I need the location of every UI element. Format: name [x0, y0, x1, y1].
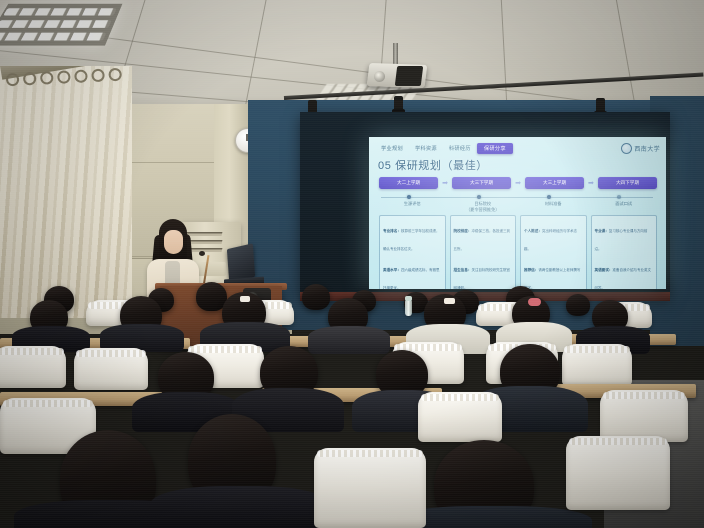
- recessed-louver-light: [0, 4, 122, 46]
- slide-tab-1: 学科资源: [409, 145, 443, 152]
- lecture-hall-photo: 学业规划 学科资源 科研经历 保研分享 西南大学 05 保研规划（最佳） 大二上…: [0, 0, 704, 528]
- slide-title: 05 保研规划（最佳）: [378, 157, 488, 173]
- card-paragraph: 院校梯度：冲稳保三档，各投递三到五所。: [454, 219, 513, 255]
- university-logo-text: 西南大学: [634, 144, 660, 153]
- column-header-3: 面试口试: [591, 201, 658, 212]
- card-paragraph: 英语面试：准备自我介绍与专业英文问答。: [595, 258, 654, 289]
- card-paragraph: 专业排名：核算前三学年加权成绩，确认专业排名位次。: [383, 219, 442, 255]
- water-bottle: [405, 300, 412, 316]
- paragraph-key: 英语面试：: [595, 268, 613, 272]
- paragraph-key: 招生信息：: [454, 268, 472, 272]
- timeline-dot: [477, 195, 481, 199]
- slide-step-chips: 大二上学期 ➡ 大三下学期 ➡ 大三上学期 ➡ 大四下学期: [379, 177, 657, 189]
- timeline-dot: [547, 195, 551, 199]
- slide-tab-3-active: 保研分享: [477, 143, 513, 154]
- step-arrow-icon: ➡: [588, 179, 594, 187]
- slide-column-headers: 生源评估 目标院校 （夏令营预推免） 材料准备 面试口试: [379, 201, 657, 212]
- content-card: 个人陈述：突出科研经历与学术志趣。 推荐信：请两位副教授以上老师撰写签字。 成绩…: [520, 215, 587, 289]
- paragraph-key: 英语水平：: [383, 268, 401, 272]
- column-header-2: 材料准备: [520, 201, 587, 212]
- slide-timeline: [381, 194, 653, 200]
- projector-lens: [374, 71, 385, 82]
- step-chip-3: 大四下学期: [598, 177, 657, 189]
- paragraph-key: 专业课：: [595, 229, 609, 233]
- paragraph-key: 个人陈述：: [524, 229, 542, 233]
- paragraph-key: 院校梯度：: [454, 229, 472, 233]
- hair-claw-clip: [444, 298, 455, 304]
- card-paragraph: 招生信息：关注目标院校研究生院官网通知。: [454, 258, 513, 289]
- step-chip-2: 大三上学期: [525, 177, 584, 189]
- timeline-dot: [617, 195, 621, 199]
- slide-nav-bar: 学业规划 学科资源 科研经历 保研分享 西南大学: [375, 142, 660, 154]
- step-arrow-icon: ➡: [442, 179, 448, 187]
- column-header-0: 生源评估: [379, 201, 446, 212]
- content-card: 专业课：复习核心专业课与方向前沿。 英语面试：准备自我介绍与专业英文问答。 科研…: [591, 215, 658, 289]
- card-paragraph: 推荐信：请两位副教授以上老师撰写签字。: [524, 258, 583, 289]
- microphone-head-icon: [199, 251, 205, 256]
- slide-content-cards: 专业排名：核算前三学年加权成绩，确认专业排名位次。 英语水平：四六级成绩达标，有…: [379, 215, 657, 289]
- paragraph-key: 推荐信：: [524, 268, 538, 272]
- university-logo: 西南大学: [621, 143, 660, 154]
- window-curtains: [0, 66, 132, 318]
- card-paragraph: 专业课：复习核心专业课与方向前沿。: [595, 219, 654, 255]
- university-logo-icon: [621, 143, 632, 154]
- card-paragraph: 英语水平：四六级成绩达标，有雅思托福更优。: [383, 258, 442, 289]
- step-chip-1: 大三下学期: [452, 177, 511, 189]
- content-card: 院校梯度：冲稳保三档，各投递三到五所。 招生信息：关注目标院校研究生院官网通知。…: [450, 215, 517, 289]
- hair-claw-clip: [240, 296, 250, 302]
- step-arrow-icon: ➡: [515, 179, 521, 187]
- slide-tab-0: 学业规划: [375, 145, 409, 152]
- timeline-line: [381, 197, 653, 198]
- content-card: 专业排名：核算前三学年加权成绩，确认专业排名位次。 英语水平：四六级成绩达标，有…: [379, 215, 446, 289]
- paragraph-key: 专业排名：: [383, 229, 401, 233]
- audience-shoulders: [308, 326, 390, 354]
- projector-vent: [395, 66, 423, 86]
- audience-shoulders: [150, 486, 330, 528]
- column-header-1: 目标院校 （夏令营预推免）: [450, 201, 517, 212]
- slide-tab-2: 科研经历: [443, 145, 477, 152]
- hair-clip: [528, 298, 541, 306]
- presenter-face: [164, 230, 183, 254]
- step-chip-0: 大二上学期: [379, 177, 438, 189]
- projection-screen: 学业规划 学科资源 科研经历 保研分享 西南大学 05 保研规划（最佳） 大二上…: [369, 137, 666, 289]
- timeline-dot: [407, 195, 411, 199]
- card-paragraph: 个人陈述：突出科研经历与学术志趣。: [524, 219, 583, 255]
